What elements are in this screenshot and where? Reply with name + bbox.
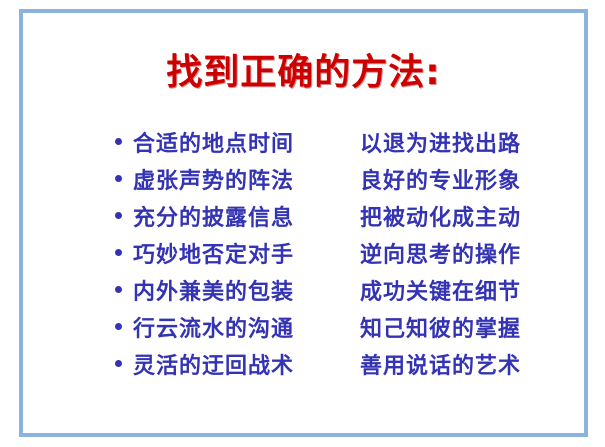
- list-item: 内外兼美的包装 成功关键在细节: [115, 271, 555, 308]
- list-item-right-text: 善用说话的艺术: [360, 348, 521, 380]
- list-item: 行云流水的沟通 知己知彼的掌握: [115, 308, 555, 345]
- slide-border-frame: 找到正确的方法: 合适的地点时间 以退为进找出路 虚张声势的阵法 良好的专业形象…: [19, 9, 588, 437]
- bullet-icon: [115, 360, 133, 367]
- list-item: 巧妙地否定对手 逆向思考的操作: [115, 234, 555, 271]
- bullet-icon: [115, 323, 133, 330]
- list-item-right-text: 良好的专业形象: [360, 163, 521, 195]
- list-item: 虚张声势的阵法 良好的专业形象: [115, 160, 555, 197]
- list-item-left-text: 巧妙地否定对手: [133, 237, 338, 269]
- list-item-left-text: 内外兼美的包装: [133, 274, 338, 306]
- list-item-right-text: 逆向思考的操作: [360, 237, 521, 269]
- list-item-right-text: 知己知彼的掌握: [360, 311, 521, 343]
- list-item-right-text: 以退为进找出路: [360, 126, 521, 158]
- page-title: 找到正确的方法:: [23, 51, 584, 95]
- bullet-icon: [115, 249, 133, 256]
- slide-canvas: 找到正确的方法: 合适的地点时间 以退为进找出路 虚张声势的阵法 良好的专业形象…: [0, 0, 605, 447]
- list-item-right-text: 成功关键在细节: [360, 274, 521, 306]
- bullet-icon: [115, 138, 133, 145]
- list-item: 灵活的迂回战术 善用说话的艺术: [115, 345, 555, 382]
- bullet-icon: [115, 212, 133, 219]
- list-item-left-text: 行云流水的沟通: [133, 311, 338, 343]
- bullet-icon: [115, 175, 133, 182]
- list-item: 充分的披露信息 把被动化成主动: [115, 197, 555, 234]
- list-item-left-text: 充分的披露信息: [133, 200, 338, 232]
- list-item: 合适的地点时间 以退为进找出路: [115, 123, 555, 160]
- list-item-left-text: 灵活的迂回战术: [133, 348, 338, 380]
- list-item-left-text: 合适的地点时间: [133, 126, 338, 158]
- list-item-left-text: 虚张声势的阵法: [133, 163, 338, 195]
- bullet-list: 合适的地点时间 以退为进找出路 虚张声势的阵法 良好的专业形象 充分的披露信息 …: [115, 123, 555, 382]
- list-item-right-text: 把被动化成主动: [360, 200, 521, 232]
- bullet-icon: [115, 286, 133, 293]
